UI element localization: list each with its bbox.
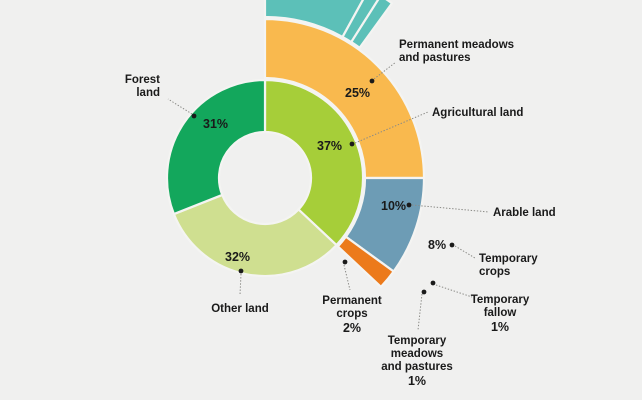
label-temporary-meadows-line2: meadows	[391, 348, 443, 360]
marker-dot-arable-land	[407, 203, 412, 208]
label-temporary-meadows-line3: and pastures	[381, 361, 453, 373]
label-other-land: Other land	[211, 303, 269, 315]
label-temporary-meadows-line1: Temporary	[388, 335, 447, 347]
marker-dot-temporary-meadows	[422, 290, 427, 295]
label-forest-land-line1: Forest	[125, 74, 160, 86]
label-temporary-crops-line2: crops	[479, 266, 510, 278]
marker-dot-forest-land	[192, 114, 197, 119]
label-permanent-meadows-line2: and pastures	[399, 52, 471, 64]
marker-dot-permanent-crops	[343, 260, 348, 265]
marker-dot-temporary-crops	[450, 243, 455, 248]
marker-dot-permanent-meadows	[370, 79, 375, 84]
value-temporary-fallow: 1%	[491, 320, 509, 334]
marker-dot-temporary-fallow	[431, 281, 436, 286]
chart-svg: Forest land 31% Other land 32% Agricultu…	[0, 0, 642, 400]
value-permanent-crops: 2%	[343, 321, 361, 335]
label-permanent-crops-line1: Permanent	[322, 295, 382, 307]
value-permanent-meadows: 25%	[345, 86, 370, 100]
value-forest-land: 31%	[203, 117, 228, 131]
value-arable-land: 10%	[381, 199, 406, 213]
label-permanent-crops-line2: crops	[336, 308, 367, 320]
value-temporary-meadows: 1%	[408, 374, 426, 388]
label-forest-land-line2: land	[136, 87, 160, 99]
label-arable-land: Arable land	[493, 207, 556, 219]
label-temporary-fallow-line1: Temporary	[471, 294, 530, 306]
value-temporary-crops: 8%	[428, 238, 446, 252]
value-agricultural-land: 37%	[317, 139, 342, 153]
label-temporary-fallow-line2: fallow	[484, 307, 517, 319]
label-permanent-meadows-line1: Permanent meadows	[399, 39, 514, 51]
sunburst-chart: Forest land 31% Other land 32% Agricultu…	[0, 0, 642, 400]
label-agricultural-land: Agricultural land	[432, 107, 523, 119]
marker-dot-agricultural-land	[350, 142, 355, 147]
marker-dot-other-land	[239, 269, 244, 274]
label-temporary-crops-line1: Temporary	[479, 253, 538, 265]
value-other-land: 32%	[225, 250, 250, 264]
